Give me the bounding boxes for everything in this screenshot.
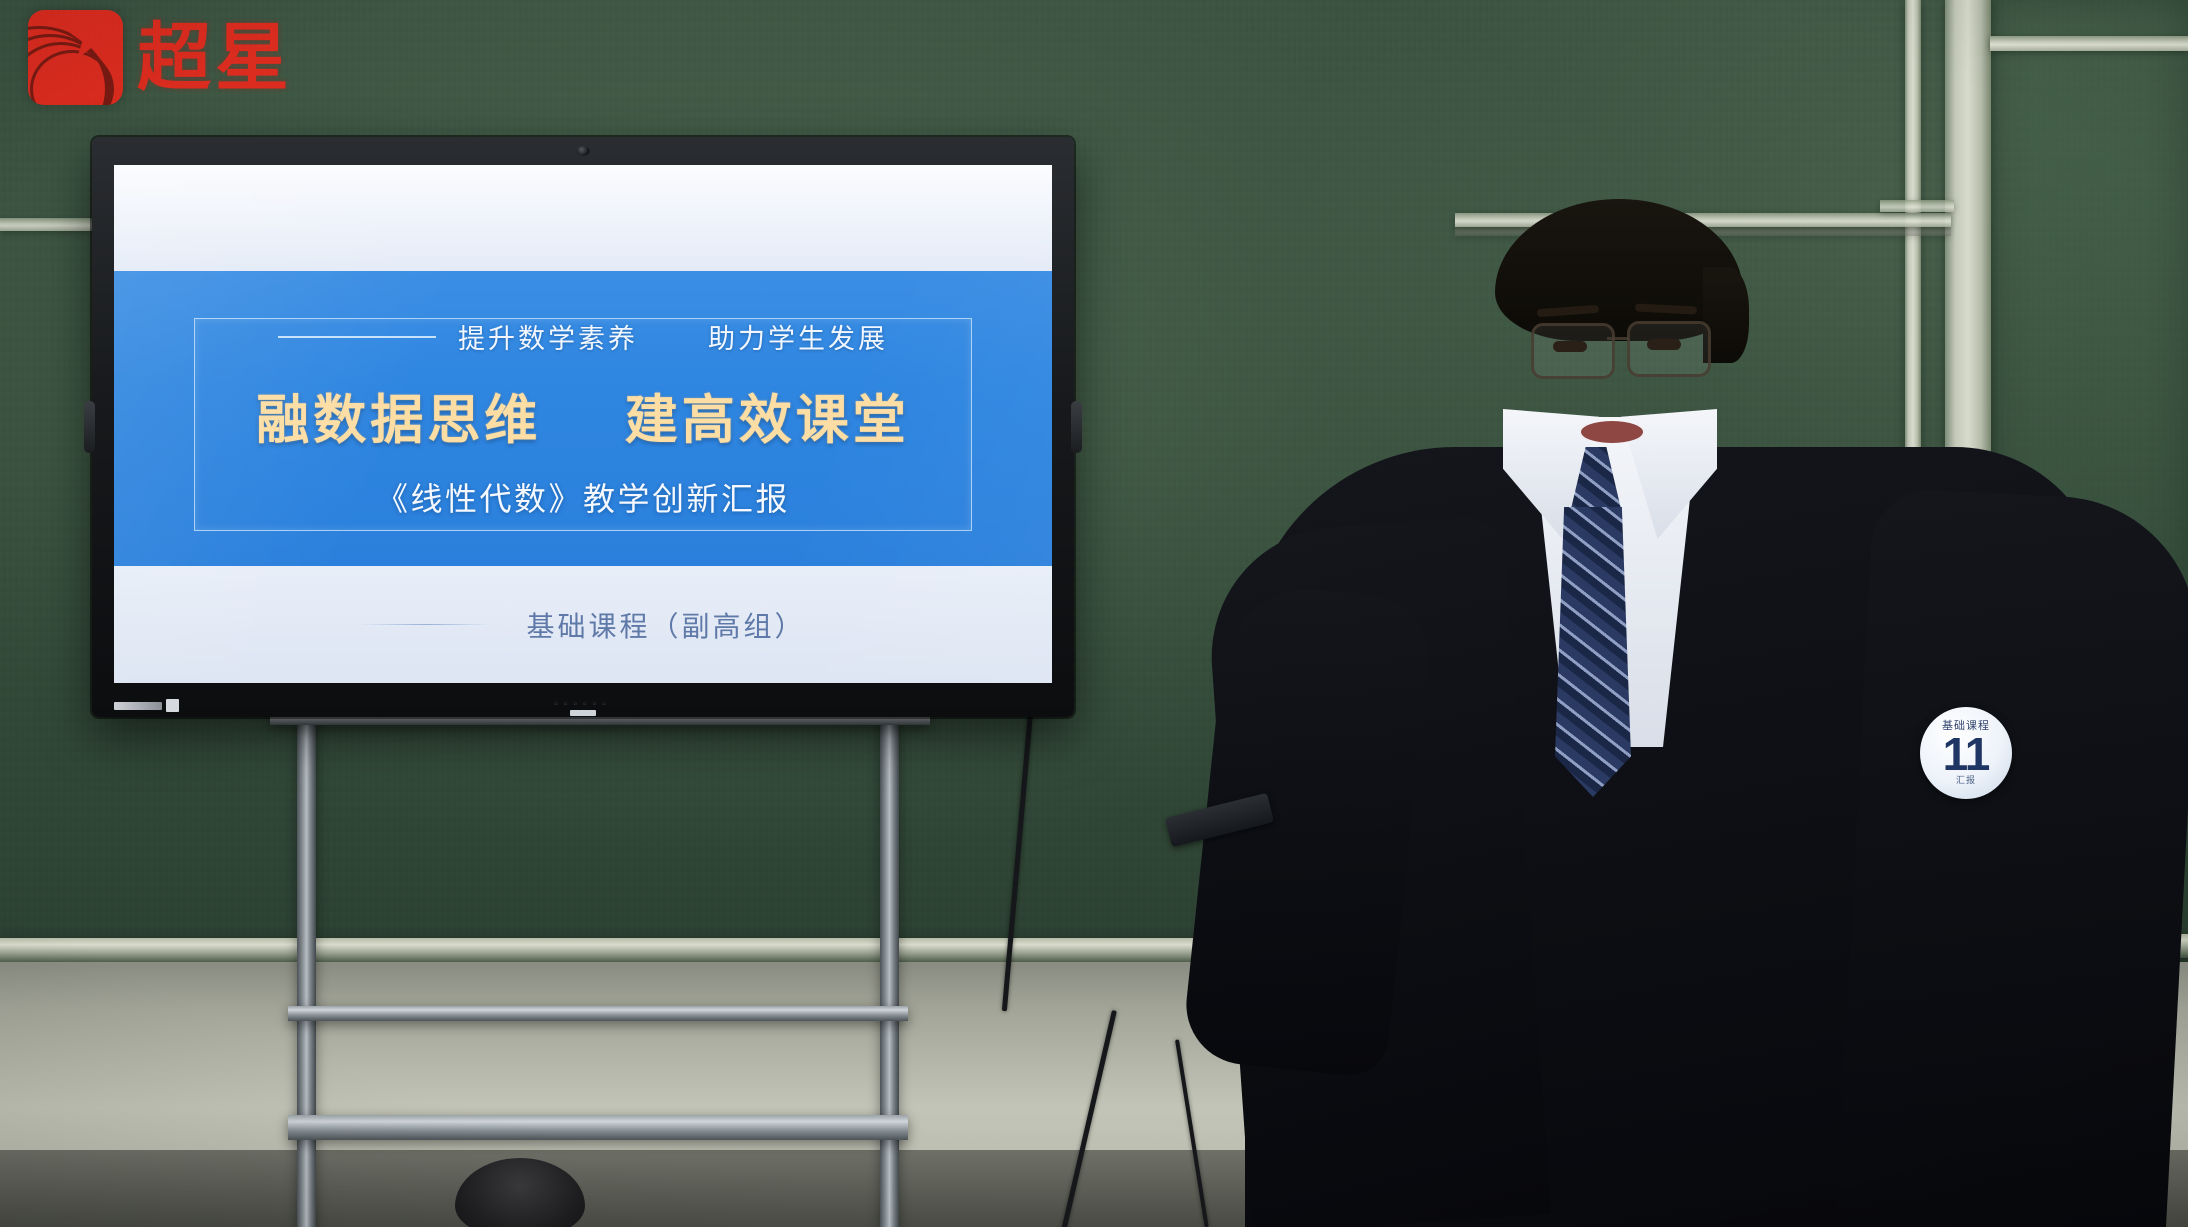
- slide-title-band: 提升数学素养 助力学生发展 融数据思维 建高效课堂 《线性代数》教学创新汇报: [114, 271, 1052, 566]
- slide-eyebrow-right: 助力学生发展: [708, 317, 888, 356]
- stand-leg-left: [297, 712, 316, 1227]
- stand-crossbar-upper: [288, 1006, 908, 1021]
- panel-bezel-brand: ▫▫▫▫▫▫: [554, 699, 611, 710]
- slide-footer-area: 基础课程（副高组）: [114, 566, 1052, 683]
- panel-side-handle-right[interactable]: [1071, 401, 1082, 453]
- board-frame-horizontal-upper: [1990, 36, 2188, 51]
- presentation-slide[interactable]: 提升数学素养 助力学生发展 融数据思维 建高效课堂 《线性代数》教学创新汇报: [114, 165, 1052, 683]
- badge-number: 11: [1943, 733, 1990, 775]
- slide-eyebrow-row: 提升数学素养 助力学生发展: [114, 317, 1052, 356]
- panel-side-handle-left[interactable]: [84, 401, 95, 453]
- stand-leg-right: [880, 712, 899, 1227]
- slide-headline-right: 建高效课堂: [625, 391, 910, 450]
- watermark-logo: 超星: [28, 10, 293, 105]
- comet-star-icon: [28, 10, 123, 105]
- footer-rule-left: [360, 624, 492, 625]
- screenshot-stage: 超星 提升数学素养 助力学生发展: [0, 0, 2188, 1227]
- presenter-mouth: [1581, 421, 1643, 443]
- panel-camera-icon: [577, 146, 590, 156]
- board-frame-horizontal-lower-left: [0, 218, 96, 231]
- presenter-figure: 基础课程 11 汇报: [1215, 195, 2188, 1227]
- stand-crossbar-lower: [288, 1115, 908, 1140]
- chalk-tray-ledge: [0, 938, 1270, 964]
- slide-subheadline: 《线性代数》教学创新汇报: [114, 474, 1052, 520]
- interactive-flat-panel-display[interactable]: 提升数学素养 助力学生发展 融数据思维 建高效课堂 《线性代数》教学创新汇报: [92, 137, 1074, 717]
- presenter-suit-shoulder-right: [1836, 487, 2188, 1227]
- presenter-eye-left: [1553, 341, 1587, 352]
- slide-headline-left: 融数据思维: [256, 391, 541, 450]
- slide-top-margin: [114, 165, 1052, 271]
- slide-headline: 融数据思维 建高效课堂: [114, 378, 1052, 454]
- slide-eyebrow-left: 提升数学素养: [458, 317, 638, 356]
- presenter-eye-right: [1647, 339, 1681, 350]
- eyebrow-rule-left: [278, 336, 436, 338]
- presenter-necktie-body: [1555, 507, 1631, 797]
- slide-title-block: 提升数学素养 助力学生发展 融数据思维 建高效课堂 《线性代数》教学创新汇报: [114, 317, 1052, 520]
- watermark-brand-text: 超星: [137, 21, 293, 95]
- badge-sub-label: 汇报: [1956, 776, 1976, 785]
- presenter-glasses-bridge: [1607, 337, 1629, 340]
- presenter-number-badge: 基础课程 11 汇报: [1920, 707, 2012, 799]
- slide-footer-row: 基础课程（副高组）: [360, 605, 805, 645]
- panel-bezel-sticker: [114, 699, 179, 712]
- slide-footer-text: 基础课程（副高组）: [526, 605, 805, 645]
- panel-ir-sensor-icon: [570, 710, 596, 716]
